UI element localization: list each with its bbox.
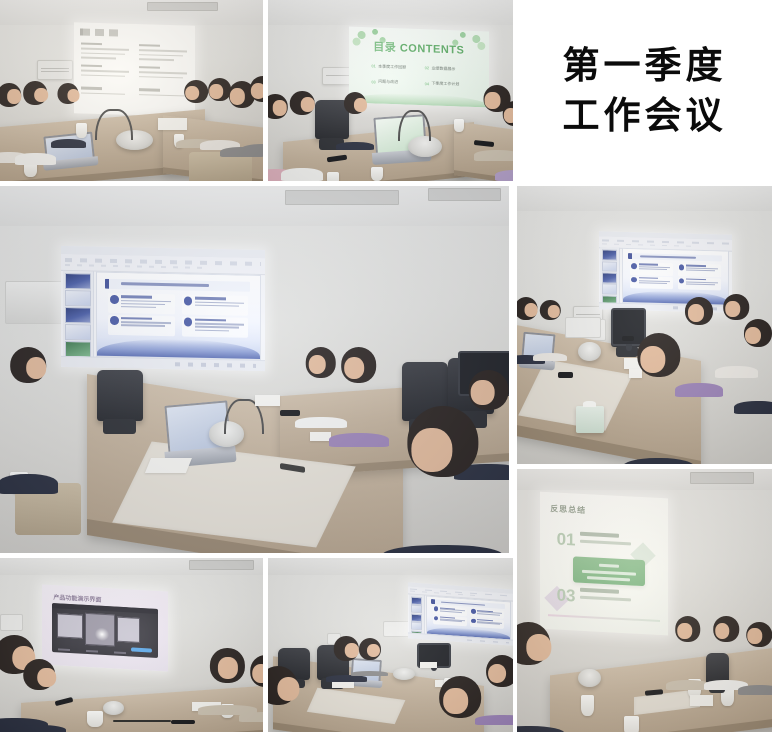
summary-item: 03 [557,587,655,609]
mobile-phone [280,410,300,416]
contents-item-number: 04 [424,81,428,86]
wall-vent [565,317,600,338]
mobile-phone [558,372,573,378]
slide-thumbnail-pane [63,272,94,359]
title-panel: 第一季度 工作会议 [517,0,772,181]
title-line-1: 第一季度 [563,41,727,91]
notepaper [310,432,330,441]
attendee [675,616,701,690]
paper-cup [581,695,594,716]
contents-item-label: 本季度工作回顾 [378,63,406,70]
contents-item-label: 下季度工作计划 [431,81,459,88]
notepaper [690,695,713,706]
slide-thumbnail [65,308,91,324]
attendee [10,347,46,494]
projection-screen: 反思总结 01 03 [540,492,668,635]
slide-card [182,317,249,338]
wall-picture [5,281,63,323]
photo-center-large[interactable] [0,186,509,553]
photo-bottom-middle[interactable] [268,558,513,732]
summary-highlight-box [573,557,644,587]
attendee-foreground [407,406,478,553]
contents-item: 04 下季度工作计划 [424,77,471,92]
wall-plate [0,614,23,632]
attendee [250,76,263,156]
photo-top-middle[interactable]: 目录 CONTENTS 01 本季度工作回顾 02 业绩数据展示 [268,0,513,181]
slide-canvas [96,272,261,360]
photo-collage: 目录 CONTENTS 01 本季度工作回顾 02 业绩数据展示 [0,0,772,732]
contents-item: 03 问题与改进 [371,75,418,90]
title-line-2: 工作会议 [563,91,727,141]
mouse-pad [145,458,192,473]
demo-slide-title: 产品功能演示界面 [53,592,101,604]
contents-item-label: 问题与改进 [378,79,398,86]
contents-item-label: 业绩数据展示 [431,65,455,72]
attendee [58,83,79,148]
attendee [290,91,315,182]
attendee [268,94,288,181]
powerpoint-window [61,246,265,371]
attendee [713,616,739,690]
slide-thumbnail [65,325,91,341]
contents-title-cn: 目录 [373,41,396,54]
slide-thumbnail [65,291,91,307]
contents-item-number: 01 [371,63,375,68]
summary-item: 01 [557,531,655,553]
attendee [685,297,713,397]
attendee [540,300,560,361]
attendee [305,347,336,428]
speakerphone [393,668,415,680]
photo-top-left[interactable] [0,0,263,181]
slide-title [105,279,250,292]
slide-card [108,294,175,315]
photo-right-upper[interactable] [517,186,772,464]
attendee [24,81,48,164]
attendee [250,655,263,721]
summary-item-number: 01 [557,531,576,549]
projection-screen: 产品功能演示界面 [42,584,168,671]
contents-title-en: CONTENTS [400,42,465,56]
contents-item: 01 本季度工作回顾 [371,59,418,74]
projection-screen [74,22,195,116]
contents-item: 02 业绩数据展示 [424,61,471,76]
attendee [359,638,381,676]
attendee [486,655,513,725]
projection-screen [61,246,265,371]
attendee [744,319,772,414]
attendee [184,80,208,149]
attendee [503,101,513,181]
attendee [0,83,21,163]
notepaper [420,662,437,667]
paper-cup [371,167,383,181]
tissue-box [576,406,604,434]
notebook [158,118,187,131]
paper-cup [87,711,103,727]
summary-slide-title: 反思总结 [550,503,586,516]
wall-ac-unit [383,621,410,637]
attendee [24,659,56,732]
paper-cup [327,172,339,181]
photo-right-lower[interactable]: 反思总结 01 03 [517,469,772,732]
attendee [341,347,377,446]
projection-screen [408,582,513,645]
summary-item-number: 03 [557,587,576,605]
notebook [255,395,280,406]
contents-item-number: 02 [424,65,428,70]
projection-screen: 目录 CONTENTS 01 本季度工作回顾 02 业绩数据展示 [349,27,489,108]
photo-bottom-left[interactable]: 产品功能演示界面 [0,558,263,732]
speakerphone [103,701,124,715]
remote-control [171,720,195,724]
speakerphone [578,342,601,361]
mouse-pad [332,682,354,689]
attendee-foreground [637,333,680,464]
attendee [747,622,772,696]
slide-card [108,315,175,336]
attendee-foreground [517,622,550,732]
slide-thumbnail [65,274,91,290]
paper-cup [624,716,639,732]
slide-card [182,295,249,316]
paper-cup [454,119,464,132]
demo-screenshot-panel [52,602,158,658]
attendee [344,92,366,150]
attendee-foreground [268,666,297,732]
attendee [210,648,244,714]
office-chair [97,370,143,421]
wall-ac-unit [37,60,73,80]
contents-item-number: 03 [371,79,375,84]
remote-control [622,336,635,340]
